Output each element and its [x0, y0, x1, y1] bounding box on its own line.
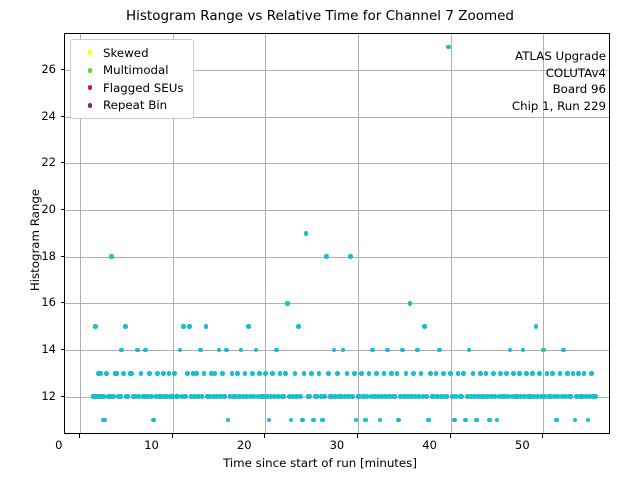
data-point [298, 394, 303, 399]
data-point [300, 418, 305, 423]
y-tick-mark [61, 256, 65, 257]
data-point [508, 348, 513, 353]
data-point [93, 324, 98, 329]
data-point [194, 371, 199, 376]
data-point [322, 394, 327, 399]
data-point [161, 371, 166, 376]
data-point [441, 371, 446, 376]
data-point [491, 371, 496, 376]
data-point [573, 418, 578, 423]
data-point [185, 371, 190, 376]
data-point [226, 418, 231, 423]
y-tick-label: 24 [28, 109, 56, 123]
data-point [576, 371, 581, 376]
data-point [467, 348, 472, 353]
x-tick-label: 40 [410, 438, 450, 452]
data-point [109, 254, 114, 259]
data-point [367, 371, 372, 376]
gridline-horizontal [65, 163, 609, 164]
data-point [395, 371, 400, 376]
y-tick-mark [61, 209, 65, 210]
data-point [408, 301, 413, 306]
data-point [178, 348, 183, 353]
data-point [352, 371, 357, 376]
y-tick-label: 14 [28, 342, 56, 356]
data-point [307, 394, 312, 399]
data-point [541, 348, 546, 353]
data-point [98, 371, 103, 376]
data-point [370, 348, 375, 353]
data-point [534, 324, 539, 329]
data-point [554, 418, 559, 423]
data-point [204, 324, 209, 329]
data-point [393, 394, 398, 399]
data-point [495, 418, 500, 423]
data-point [239, 348, 244, 353]
data-point [332, 348, 337, 353]
y-tick-label: 26 [28, 62, 56, 76]
data-point [115, 371, 120, 376]
data-point [187, 324, 192, 329]
data-point [400, 348, 405, 353]
data-point [463, 418, 468, 423]
data-point [537, 371, 542, 376]
data-point [404, 371, 409, 376]
x-tick-mark [79, 434, 80, 438]
annotation-block: ATLAS UpgradeCOLUTAv4Board 96Chip 1, Run… [512, 48, 606, 114]
annotation-line: Board 96 [512, 81, 606, 98]
legend-marker-icon [77, 50, 103, 55]
data-point [278, 371, 283, 376]
data-point [289, 418, 294, 423]
data-point [389, 371, 394, 376]
x-tick-mark [542, 434, 543, 438]
data-point [143, 348, 148, 353]
data-point [446, 45, 451, 50]
data-point [471, 371, 476, 376]
data-point [263, 371, 268, 376]
data-point [296, 324, 301, 329]
data-point [257, 371, 262, 376]
data-point [419, 371, 424, 376]
y-tick-mark [61, 116, 65, 117]
data-point [359, 371, 364, 376]
data-point [222, 394, 227, 399]
data-point [550, 371, 555, 376]
data-point [246, 324, 251, 329]
data-point [200, 394, 205, 399]
legend-marker-icon [77, 85, 103, 90]
data-point [126, 394, 131, 399]
y-tick-label: 12 [28, 389, 56, 403]
data-point [224, 348, 229, 353]
data-point [521, 348, 526, 353]
x-tick-label: 20 [224, 438, 264, 452]
data-point [558, 371, 563, 376]
data-point [524, 371, 529, 376]
data-point [172, 371, 177, 376]
data-point [147, 371, 152, 376]
data-point [281, 394, 286, 399]
data-point [545, 371, 550, 376]
data-point [119, 348, 124, 353]
data-point [589, 371, 594, 376]
data-point [459, 394, 464, 399]
data-point [274, 348, 279, 353]
data-point [350, 394, 355, 399]
legend: SkewedMultimodalFlagged SEUsRepeat Bin [70, 39, 194, 119]
data-point [411, 371, 416, 376]
data-point [149, 394, 154, 399]
data-point [426, 418, 431, 423]
data-point [530, 371, 535, 376]
data-point [304, 231, 309, 236]
data-point [213, 371, 218, 376]
x-tick-label: 0 [39, 438, 79, 452]
x-tick-label: 30 [317, 438, 357, 452]
data-point [448, 371, 453, 376]
data-point [456, 371, 461, 376]
data-point [396, 418, 401, 423]
data-point [111, 394, 116, 399]
data-point [183, 394, 188, 399]
data-point [378, 418, 383, 423]
data-point [123, 324, 128, 329]
data-point [593, 394, 598, 399]
data-point [385, 348, 390, 353]
data-point [326, 371, 331, 376]
data-point [243, 371, 248, 376]
data-point [217, 348, 222, 353]
data-point [571, 371, 576, 376]
data-point [103, 418, 108, 423]
annotation-line: COLUTAv4 [512, 65, 606, 82]
page-title: Histogram Range vs Relative Time for Cha… [0, 8, 640, 24]
data-point [474, 418, 479, 423]
data-point [341, 348, 346, 353]
legend-marker-icon [77, 103, 103, 108]
data-point [461, 371, 466, 376]
y-tick-mark [61, 162, 65, 163]
data-point [267, 418, 272, 423]
data-point [335, 371, 340, 376]
data-point [422, 324, 427, 329]
scatter-figure: Histogram Range vs Relative Time for Cha… [0, 0, 640, 480]
data-point [437, 348, 442, 353]
data-point [320, 418, 325, 423]
data-point [285, 301, 290, 306]
legend-item-label: Repeat Bin [103, 98, 167, 112]
data-point [348, 254, 353, 259]
data-point [311, 418, 316, 423]
annotation-line: Chip 1, Run 229 [512, 98, 606, 115]
data-point [452, 418, 457, 423]
x-tick-mark [357, 434, 358, 438]
x-axis-label: Time since start of run [minutes] [0, 456, 640, 470]
data-point [434, 371, 439, 376]
legend-item-skewed: Skewed [77, 44, 184, 62]
data-point [198, 348, 203, 353]
x-tick-mark [450, 434, 451, 438]
data-point [254, 348, 259, 353]
data-point [270, 371, 275, 376]
data-point [121, 371, 126, 376]
data-point [382, 371, 387, 376]
data-point [345, 371, 350, 376]
data-point [155, 371, 160, 376]
y-tick-mark [61, 396, 65, 397]
data-point [135, 348, 140, 353]
data-point [511, 371, 516, 376]
data-point [118, 394, 123, 399]
data-point [167, 371, 172, 376]
data-point [565, 371, 570, 376]
y-axis-label: Histogram Range [28, 150, 42, 330]
data-point [428, 371, 433, 376]
gridline-horizontal [65, 257, 609, 258]
legend-item-label: Flagged SEUs [103, 81, 184, 95]
data-point [569, 394, 574, 399]
legend-marker-icon [77, 68, 103, 73]
data-point [283, 371, 288, 376]
data-point [484, 371, 489, 376]
data-point [250, 371, 255, 376]
data-point [415, 348, 420, 353]
data-point [498, 371, 503, 376]
data-point [104, 371, 109, 376]
gridline-horizontal [65, 303, 609, 304]
data-point [424, 394, 429, 399]
data-point [152, 418, 157, 423]
data-point [309, 371, 314, 376]
data-point [293, 371, 298, 376]
data-point [582, 371, 587, 376]
data-point [202, 371, 207, 376]
legend-item-multimodal: Multimodal [77, 62, 184, 80]
data-point [220, 371, 225, 376]
data-point [561, 348, 566, 353]
data-point [324, 254, 329, 259]
data-point [586, 418, 591, 423]
data-point [302, 371, 307, 376]
x-tick-label: 50 [502, 438, 542, 452]
gridline-horizontal [65, 210, 609, 211]
legend-item-label: Skewed [103, 46, 149, 60]
data-point [317, 371, 322, 376]
y-tick-mark [61, 302, 65, 303]
legend-item-label: Multimodal [103, 63, 169, 77]
x-tick-label: 10 [132, 438, 172, 452]
data-point [363, 418, 368, 423]
data-point [129, 371, 134, 376]
data-point [139, 371, 144, 376]
y-tick-mark [61, 349, 65, 350]
x-tick-mark [264, 434, 265, 438]
legend-item-repeat-bin: Repeat Bin [77, 97, 184, 115]
data-point [445, 394, 450, 399]
y-tick-mark [61, 69, 65, 70]
data-point [374, 371, 379, 376]
annotation-line: ATLAS Upgrade [512, 48, 606, 65]
data-point [487, 418, 492, 423]
data-point [517, 371, 522, 376]
data-point [181, 324, 186, 329]
data-point [235, 371, 240, 376]
legend-item-flagged-seus: Flagged SEUs [77, 79, 184, 97]
x-tick-mark [172, 434, 173, 438]
data-point [478, 371, 483, 376]
data-point [504, 371, 509, 376]
data-point [230, 371, 235, 376]
